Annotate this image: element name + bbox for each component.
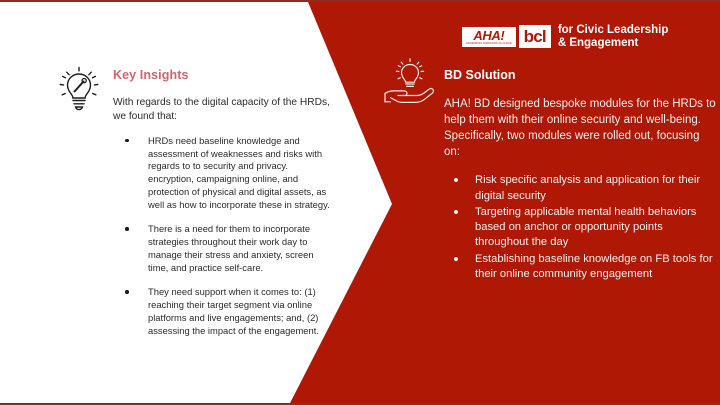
key-insights-panel: Key Insights With regards to the digital… xyxy=(0,2,345,405)
bcl-logo-mark: bcl xyxy=(519,25,551,48)
bd-solution-heading: BD Solution xyxy=(444,68,716,83)
bd-solution-text-block: BD Solution AHA! BD designed bespoke mod… xyxy=(444,68,716,283)
logo-tagline-line-2: & Engagement xyxy=(558,37,669,50)
aha-bcl-logo: AHA! ASCENDING HORIZONS ALLIANCE bcl for… xyxy=(462,24,668,50)
bullet-dot-icon xyxy=(454,178,458,182)
lightbulb-icon xyxy=(55,62,103,114)
key-insights-text-block: Key Insights With regards to the digital… xyxy=(113,68,335,338)
list-item-text: Establishing baseline knowledge on FB to… xyxy=(475,253,713,280)
logo-tagline: for Civic Leadership & Engagement xyxy=(558,24,669,50)
bullet-dot-icon xyxy=(454,257,458,261)
aha-logo-mark: AHA! ASCENDING HORIZONS ALLIANCE xyxy=(462,27,516,47)
slide-canvas: Key Insights With regards to the digital… xyxy=(0,0,720,405)
list-item: There is a need for them to incorporate … xyxy=(113,223,335,275)
hand-holding-lightbulb-icon xyxy=(380,57,438,109)
list-item-text: Targeting applicable mental health behav… xyxy=(475,206,696,248)
bd-solution-panel: AHA! ASCENDING HORIZONS ALLIANCE bcl for… xyxy=(380,2,720,405)
bd-solution-bullet-list: Risk specific analysis and application f… xyxy=(444,173,716,282)
logo-tagline-line-1: for Civic Leadership xyxy=(558,24,669,37)
list-item: Targeting applicable mental health behav… xyxy=(444,205,716,251)
bullet-dot-icon xyxy=(454,210,458,214)
aha-wordmark: AHA! xyxy=(473,29,504,42)
bullet-dot-icon xyxy=(125,139,129,143)
list-item: Risk specific analysis and application f… xyxy=(444,173,716,203)
key-insights-bullet-list: HRDs need baseline knowledge and assessm… xyxy=(113,135,335,339)
key-insights-intro: With regards to the digital capacity of … xyxy=(113,96,335,124)
list-item-text: There is a need for them to incorporate … xyxy=(148,223,314,273)
list-item: Establishing baseline knowledge on FB to… xyxy=(444,252,716,282)
bcl-wordmark: bcl xyxy=(523,27,547,47)
list-item: They need support when it comes to: (1) … xyxy=(113,286,335,338)
list-item-text: Risk specific analysis and application f… xyxy=(475,174,700,201)
key-insights-heading: Key Insights xyxy=(113,68,335,83)
list-item-text: HRDs need baseline knowledge and assessm… xyxy=(148,135,330,211)
bd-solution-intro: AHA! BD designed bespoke modules for the… xyxy=(444,97,716,160)
bullet-dot-icon xyxy=(125,227,129,231)
bullet-dot-icon xyxy=(125,290,129,294)
list-item-text: They need support when it comes to: (1) … xyxy=(148,286,319,336)
aha-wordmark-subtitle: ASCENDING HORIZONS ALLIANCE xyxy=(466,43,512,46)
list-item: HRDs need baseline knowledge and assessm… xyxy=(113,135,335,213)
